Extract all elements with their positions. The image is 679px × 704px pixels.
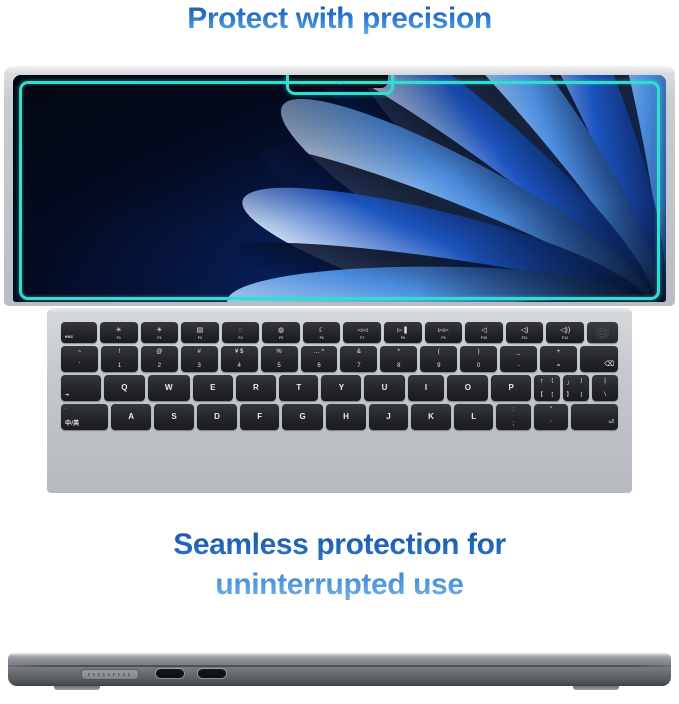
key-upper-label: ! (119, 349, 121, 355)
key-lower-label: 8 (397, 363, 400, 369)
key-lower-label: - (518, 363, 520, 369)
key-fn-label: F2 (157, 337, 161, 341)
key-h[interactable]: H (326, 404, 366, 430)
magsafe-3-port (81, 669, 139, 680)
screen-protector-notch-cutout (286, 75, 394, 95)
key-touch-id[interactable] (587, 322, 618, 343)
key-semicolon[interactable]: :; (496, 404, 530, 430)
delete-icon: ⌫ (604, 361, 614, 368)
key-label: U (382, 384, 388, 392)
key-1[interactable]: !1 (101, 346, 138, 372)
key-upper-label: : (513, 407, 515, 413)
key-fn-label: F4 (238, 337, 242, 341)
key-label: G (299, 413, 305, 421)
key-do-not-disturb[interactable]: ☾F6 (303, 322, 341, 343)
headline-bottom: Seamless protection for uninterrupted us… (0, 525, 679, 605)
key-lower-label: 7 (357, 363, 360, 369)
key-label: A (128, 413, 134, 421)
key-lower-label: ' (550, 421, 551, 427)
key-volume-down[interactable]: ◁)F11 (506, 322, 544, 343)
key-5[interactable]: %5 (261, 346, 298, 372)
key-lower-label: 9 (437, 363, 440, 369)
key-volume-up[interactable]: ◁))F12 (546, 322, 584, 343)
key-label-q1: 」 (567, 378, 573, 386)
key-upper-label: ( (438, 349, 440, 355)
key-label-q2: { (551, 378, 553, 384)
key-label: W (165, 384, 173, 392)
key-label: T (296, 384, 301, 392)
key-2[interactable]: @2 (141, 346, 178, 372)
product-image-canvas: Protect with precision (0, 0, 679, 704)
key-quote[interactable]: "' (534, 404, 568, 430)
key-d[interactable]: D (197, 404, 237, 430)
dictation-mic-icon: ◍ (278, 327, 284, 334)
key-label-q1: 「 (538, 378, 544, 386)
keyboard-row-qwerty: ⇥QWERTYUIOP「{【[」}】]|\ (61, 375, 618, 401)
key-esc[interactable]: esc (61, 322, 97, 343)
key-q[interactable]: Q (104, 375, 145, 401)
rubber-foot-right (573, 686, 619, 690)
return-icon: ⏎ (608, 419, 614, 426)
key-label: L (471, 413, 476, 421)
keyboard: esc☀F1☀F2▤F3◌F4◍F5☾F6◅◅F7▻❚F8▻▻F9◁F10◁)F… (61, 322, 618, 433)
do-not-disturb-icon: ☾ (319, 327, 325, 334)
key-lower-label: 4 (237, 363, 240, 369)
mission-control-icon: ▤ (197, 327, 204, 334)
brightness-down-icon: ☀ (116, 327, 122, 334)
laptop-lid (4, 66, 675, 306)
key-`[interactable]: ~` (61, 346, 98, 372)
deck-front-lip (47, 308, 632, 314)
key-j[interactable]: J (369, 404, 408, 430)
key-upper-label: ) (478, 349, 480, 355)
fingerprint-icon (596, 326, 609, 339)
key-fn-label: F8 (401, 337, 405, 341)
key-brightness-up[interactable]: ☀F2 (141, 322, 179, 343)
key-label: K (428, 413, 434, 421)
key-bracket-right[interactable]: 」}】] (563, 375, 589, 401)
key-fn-label: F6 (320, 337, 324, 341)
wallpaper-blue-ribbons (13, 75, 666, 302)
headline-bottom-line1: Seamless protection for (70, 525, 609, 565)
key-9[interactable]: (9 (420, 346, 457, 372)
key-lower-label: 2 (158, 363, 161, 369)
key-label: Q (121, 384, 127, 392)
magsafe-pins (88, 673, 132, 676)
key-upper-label: & (357, 349, 361, 355)
key-upper-label: % (276, 349, 281, 355)
keyboard-row-home: ·中/英ASDFGHJKL:;"'⏎ (61, 404, 618, 430)
keyboard-deck: esc☀F1☀F2▤F3◌F4◍F5☾F6◅◅F7▻❚F8▻▻F9◁F10◁)F… (47, 308, 632, 493)
key-label: Y (339, 384, 344, 392)
brightness-up-icon: ☀ (156, 327, 162, 334)
rewind-icon: ◅◅ (357, 327, 368, 334)
key-=[interactable]: += (540, 346, 577, 372)
thunderbolt-usbc-port-2 (198, 669, 226, 678)
key-delete[interactable]: ⌫ (580, 346, 618, 372)
volume-down-icon: ◁) (521, 327, 529, 334)
key-upper-label: * (398, 349, 400, 355)
key-0[interactable]: )0 (460, 346, 497, 372)
key-7[interactable]: &7 (340, 346, 377, 372)
headline-bottom-line2: uninterrupted use (70, 565, 609, 605)
key-rewind[interactable]: ◅◅F7 (343, 322, 381, 343)
key-bracket-left[interactable]: 「{【[ (534, 375, 560, 401)
volume-up-icon: ◁)) (560, 327, 570, 334)
mute-icon: ◁ (481, 327, 486, 334)
key-fn-label: F1 (117, 337, 121, 341)
key-upper-label: @ (156, 349, 162, 355)
key-g[interactable]: G (282, 404, 323, 430)
key-return[interactable]: ⏎ (571, 404, 618, 430)
key-k[interactable]: K (411, 404, 451, 430)
key-label: R (253, 384, 259, 392)
key-p[interactable]: P (491, 375, 531, 401)
key-mute[interactable]: ◁F10 (465, 322, 503, 343)
key-caps-lock-chinese-english[interactable]: ·中/英 (61, 404, 108, 430)
key-spotlight-search[interactable]: ◌F4 (222, 322, 260, 343)
keyboard-row-number: ~`!1@2#3¥ $4%5… ^6&7*8(9)0_-+=⌫ (61, 346, 618, 372)
key-6[interactable]: … ^6 (301, 346, 338, 372)
wallpaper-origin-glow (13, 75, 666, 302)
keyboard-row-function: esc☀F1☀F2▤F3◌F4◍F5☾F6◅◅F7▻❚F8▻▻F9◁F10◁)F… (61, 322, 618, 343)
key-label-q3: 【 (538, 390, 544, 398)
key-label: esc (65, 335, 73, 340)
laptop-closed-body (8, 652, 671, 686)
key-a[interactable]: A (111, 404, 151, 430)
key-label: J (386, 413, 390, 421)
key-u[interactable]: U (364, 375, 404, 401)
key-label: H (343, 413, 349, 421)
lid-base-seam (8, 665, 671, 667)
key-fn-label: F11 (522, 337, 528, 341)
key-fn-label: F12 (562, 337, 568, 341)
key-s[interactable]: S (154, 404, 194, 430)
key-lower-label: 3 (198, 363, 201, 369)
key-upper-label: + (557, 349, 561, 355)
laptop-open-view (0, 60, 679, 310)
key-fn-label: F7 (360, 337, 364, 341)
key-dictation-mic[interactable]: ◍F5 (262, 322, 300, 343)
key-mission-control[interactable]: ▤F3 (181, 322, 219, 343)
fast-forward-icon: ▻▻ (438, 327, 449, 334)
key-lower-label: ; (513, 421, 515, 427)
key-lower-label: 0 (477, 363, 480, 369)
key-fn-label: F9 (441, 337, 445, 341)
key-label-q2: } (580, 378, 582, 384)
key-fn-label: F5 (279, 337, 283, 341)
key-label: S (171, 413, 176, 421)
key-backslash[interactable]: |\ (592, 375, 618, 401)
key-w[interactable]: W (148, 375, 190, 401)
key-lower-label: 5 (277, 363, 280, 369)
key-upper-label: ~ (78, 349, 82, 355)
key-label-q4: ] (580, 392, 582, 398)
key--[interactable]: _- (500, 346, 537, 372)
key-fast-forward[interactable]: ▻▻F9 (425, 322, 463, 343)
key-label: D (214, 413, 220, 421)
key-8[interactable]: *8 (380, 346, 417, 372)
key-label: 中/英 (65, 421, 79, 427)
key-o[interactable]: O (447, 375, 488, 401)
key-upper-label: _ (517, 349, 520, 355)
key-fn-label: F10 (481, 337, 487, 341)
key-y[interactable]: Y (321, 375, 361, 401)
key-lower-label: 1 (118, 363, 121, 369)
key-label: E (210, 384, 215, 392)
key-upper-label: " (550, 407, 552, 413)
key-upper-label: # (198, 349, 201, 355)
key-label-q3: 】 (567, 390, 573, 398)
thunderbolt-usbc-port-1 (156, 669, 184, 678)
key-e[interactable]: E (193, 375, 233, 401)
key-label: P (508, 384, 513, 392)
tab-icon: ⇥ (65, 393, 69, 398)
key-i[interactable]: I (408, 375, 445, 401)
key-t[interactable]: T (279, 375, 318, 401)
key-label: I (425, 384, 427, 392)
key-label: O (465, 384, 471, 392)
caps-lock-indicator: · (65, 407, 67, 412)
key-4[interactable]: ¥ $4 (221, 346, 258, 372)
key-lower-label: ` (78, 363, 80, 369)
key-label: F (257, 413, 262, 421)
top-highlight (8, 652, 671, 655)
play-pause-icon: ▻❚ (397, 327, 408, 334)
key-lower-label: = (557, 363, 561, 369)
display-glass (13, 75, 666, 302)
key-play-pause[interactable]: ▻❚F8 (384, 322, 422, 343)
key-brightness-down[interactable]: ☀F1 (100, 322, 138, 343)
key-upper-label: ¥ $ (235, 349, 243, 355)
headline-top: Protect with precision (0, 0, 679, 39)
laptop-closed-side-view (8, 650, 671, 696)
lid-top-edge (4, 66, 675, 75)
key-f[interactable]: F (240, 404, 279, 430)
key-tab[interactable]: ⇥ (61, 375, 101, 401)
rubber-foot-left (54, 686, 100, 690)
key-r[interactable]: R (236, 375, 276, 401)
key-label-q4: [ (551, 392, 553, 398)
key-upper-label: … ^ (314, 349, 324, 355)
key-lower-label: 6 (317, 363, 320, 369)
spotlight-search-icon: ◌ (238, 327, 242, 334)
key-l[interactable]: L (454, 404, 493, 430)
wallpaper-ribbon-fan (13, 75, 666, 302)
key-upper-label: | (604, 378, 606, 384)
key-fn-label: F3 (198, 337, 202, 341)
key-3[interactable]: #3 (181, 346, 218, 372)
key-lower-label: \ (604, 392, 606, 398)
